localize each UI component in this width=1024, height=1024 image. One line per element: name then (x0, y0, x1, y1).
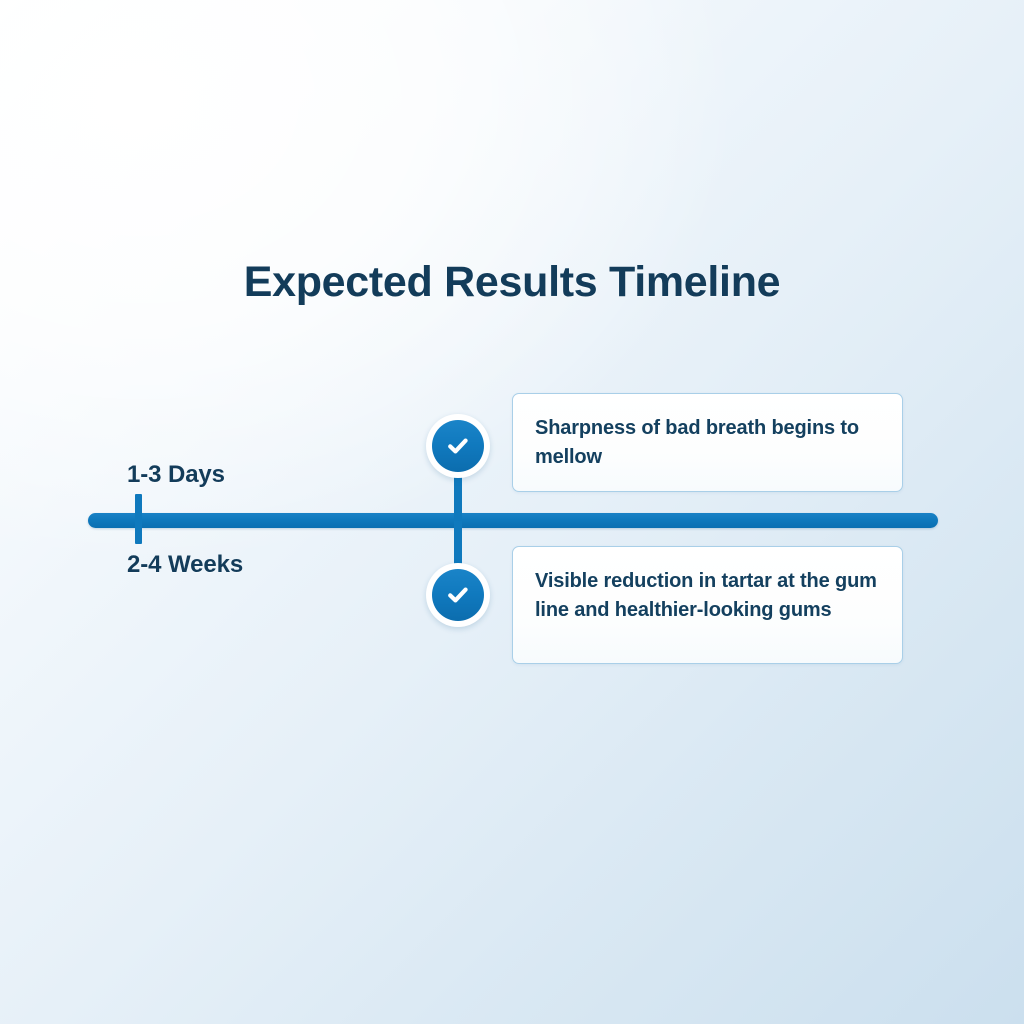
check-circle-icon (432, 420, 484, 472)
milestone-card-1-text: Sharpness of bad breath begins to mellow (535, 414, 878, 472)
page-title: Expected Results Timeline (0, 252, 1024, 312)
milestone-marker-1 (426, 414, 490, 478)
milestone-card-1: Sharpness of bad breath begins to mellow (512, 393, 903, 492)
timeline-start-tick (135, 494, 142, 544)
milestone-connector-1 (454, 474, 462, 520)
timeline-period-label-2: 2-4 Weeks (127, 551, 243, 579)
expected-results-timeline-infographic: Expected Results Timeline 1-3 Days 2-4 W… (0, 0, 1024, 1024)
milestone-card-2-text: Visible reduction in tartar at the gum l… (535, 567, 878, 625)
timeline-period-label-1: 1-3 Days (127, 461, 225, 489)
check-circle-icon (432, 569, 484, 621)
milestone-marker-2 (426, 563, 490, 627)
milestone-card-2: Visible reduction in tartar at the gum l… (512, 546, 903, 664)
timeline-axis (88, 513, 938, 528)
